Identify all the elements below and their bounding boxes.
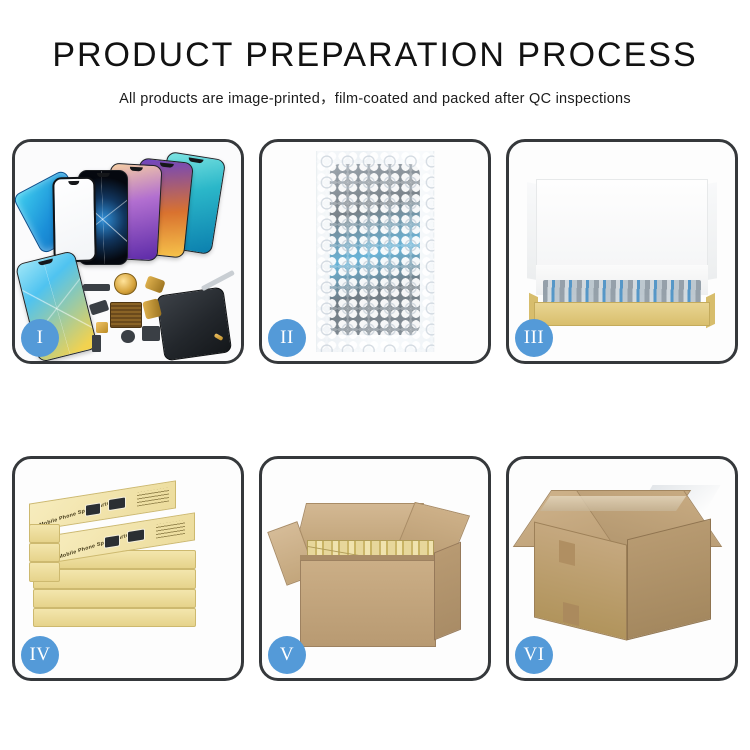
carton-front-face <box>300 560 436 648</box>
retail-box-stack-4 <box>33 589 196 608</box>
retail-box-spec-lines-lower <box>157 520 186 538</box>
retail-box-left-stack-1 <box>29 524 61 543</box>
page-subtitle: All products are image-printed，film-coat… <box>0 87 750 108</box>
step-panel-4: Mobile Phone Spare Parts Mobile Phone Sp… <box>12 456 244 681</box>
step-panel-6: VI <box>506 456 738 681</box>
retail-box-left-stack-3 <box>29 562 61 581</box>
part-battery-icon <box>92 335 101 353</box>
part-connector-icon <box>96 322 107 333</box>
retail-box-phone-image-4 <box>128 528 145 543</box>
retail-box-phone-image-3 <box>105 534 121 548</box>
steps-grid: I II III <box>12 139 738 697</box>
step-panel-5: V <box>259 456 491 681</box>
ic-chip-grid-icon <box>110 302 142 328</box>
step-panel-1: I <box>12 139 244 364</box>
sealed-carton-right-face <box>627 519 711 641</box>
step-badge-4: IV <box>21 636 59 674</box>
page-title: PRODUCT PREPARATION PROCESS <box>0 36 750 75</box>
retail-box-stack-bottom <box>33 608 196 627</box>
step-badge-2: II <box>268 319 306 357</box>
step-panel-2: II <box>259 139 491 364</box>
carton-seam-tab-bottom <box>563 602 579 626</box>
header: PRODUCT PREPARATION PROCESS All products… <box>0 0 750 108</box>
step-badge-3: III <box>515 319 553 357</box>
retail-box-left-stack-2 <box>29 543 61 562</box>
retail-box-phone-image-2 <box>108 496 125 511</box>
part-buzzer-icon <box>142 326 160 341</box>
carton-side-face <box>434 541 461 640</box>
retail-box-phone-image-1 <box>85 502 101 516</box>
carton-seam-tab-top <box>559 540 575 566</box>
part-bar-icon <box>83 284 110 291</box>
bubble-wrap-rings-icon <box>316 151 434 352</box>
step-badge-6: VI <box>515 636 553 674</box>
step-panel-3: III <box>506 139 738 364</box>
retail-box-spec-lines-upper <box>137 488 169 507</box>
wrapped-screens-icon <box>543 280 701 304</box>
step-badge-5: V <box>268 636 306 674</box>
product-preparation-infographic: PRODUCT PREPARATION PROCESS All products… <box>0 0 750 750</box>
step-badge-1: I <box>21 319 59 357</box>
tempered-glass-icon <box>53 177 97 263</box>
packing-tape-icon <box>540 496 686 511</box>
box-front-panel <box>534 302 710 326</box>
phone-back-cover-icon <box>155 287 231 361</box>
